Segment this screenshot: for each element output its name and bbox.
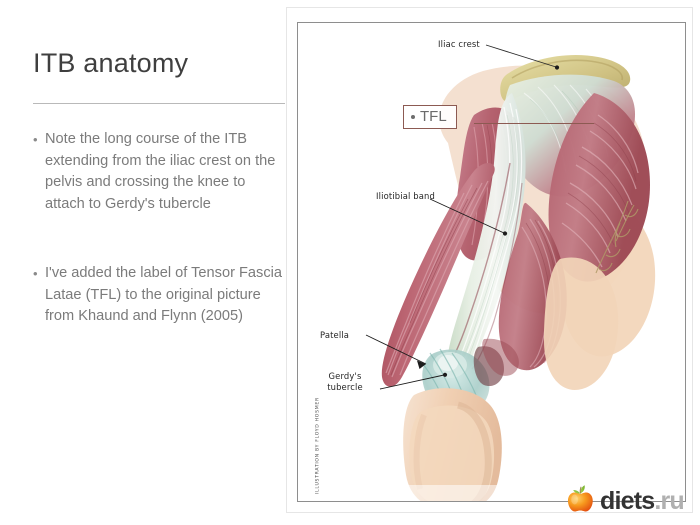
label-iliac-crest: Iliac crest [438, 39, 480, 50]
illustrator-credit: ILLUSTRATION BY FLOYD HOSMER [316, 391, 321, 501]
label-patella: Patella [320, 330, 349, 341]
anatomy-illustration [298, 23, 685, 501]
bullet-dot-icon: • [33, 263, 45, 285]
diets-ru-watermark: diets.ru [565, 482, 684, 519]
page-title: ITB anatomy [33, 48, 188, 79]
title-divider [33, 103, 285, 104]
tfl-leader-line [474, 123, 594, 124]
bullet-text: Note the long course of the ITB extendin… [45, 129, 285, 215]
tfl-label: TFL [420, 108, 447, 125]
tfl-bullet-icon [411, 115, 415, 119]
watermark-text: diets.ru [600, 488, 684, 514]
label-iliotibial-band: Iliotibial band [376, 191, 435, 202]
bullet-dot-icon: • [33, 129, 45, 151]
slide-canvas: ITB anatomy • Note the long course of th… [0, 0, 700, 525]
bullet-item: • Note the long course of the ITB extend… [33, 129, 285, 215]
illustration-frame: Iliac crest Iliotibial band Patella Gerd… [297, 22, 686, 502]
apple-icon [565, 482, 596, 519]
bullet-text: I've added the label of Tensor Fascia La… [45, 263, 285, 328]
watermark-tld: .ru [654, 487, 684, 515]
watermark-name: diets [600, 487, 654, 515]
label-gerdys-tubercle: Gerdy's tubercle [316, 371, 374, 392]
illustration-panel: Iliac crest Iliotibial band Patella Gerd… [287, 8, 692, 512]
tfl-callout-box: TFL [403, 105, 457, 129]
bullet-item: • I've added the label of Tensor Fascia … [33, 263, 285, 328]
slide-text-column: ITB anatomy • Note the long course of th… [0, 0, 287, 525]
